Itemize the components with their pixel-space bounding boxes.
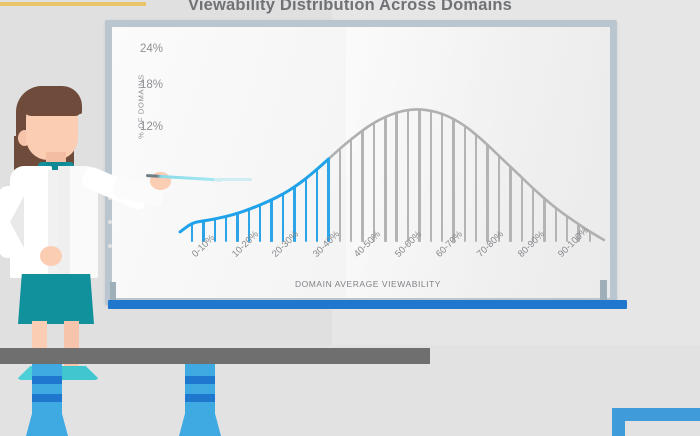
presenter-figure	[0, 78, 146, 348]
page-title: Viewability Distribution Across Domains	[0, 0, 700, 15]
platform-pillar	[185, 364, 215, 436]
pillar-base	[179, 414, 221, 436]
bracket-horizontal	[612, 408, 700, 421]
corner-bracket-decoration	[612, 408, 700, 436]
leg-right	[64, 321, 79, 373]
whiteboard: % OF DOMAINS 24% 18% 12% 0-10%10-20%20-3…	[105, 20, 617, 305]
pillar-stripe	[185, 394, 215, 402]
pointer-stick-tip	[214, 178, 252, 181]
infographic-slide: Viewability Distribution Across Domains …	[0, 0, 700, 436]
pillar-stripe	[32, 376, 62, 384]
whiteboard-surface: % OF DOMAINS 24% 18% 12% 0-10%10-20%20-3…	[112, 27, 610, 298]
pillar-stripe	[185, 376, 215, 384]
chart-plot-area: % OF DOMAINS 24% 18% 12% 0-10%10-20%20-3…	[112, 27, 624, 312]
x-axis-title: DOMAIN AVERAGE VIEWABILITY	[112, 279, 624, 289]
bracket-vertical	[612, 408, 625, 436]
platform-pillar	[32, 364, 62, 436]
coat-button	[108, 244, 112, 248]
skirt	[18, 274, 94, 324]
pillar-stripe	[32, 394, 62, 402]
coat-button	[108, 220, 112, 224]
pillar-body	[185, 364, 215, 414]
whiteboard-tray	[108, 300, 627, 309]
hand-on-hip	[40, 246, 62, 266]
pillar-base	[26, 414, 68, 436]
stage-platform	[0, 348, 430, 364]
pillar-body	[32, 364, 62, 414]
distribution-curve	[112, 27, 624, 312]
